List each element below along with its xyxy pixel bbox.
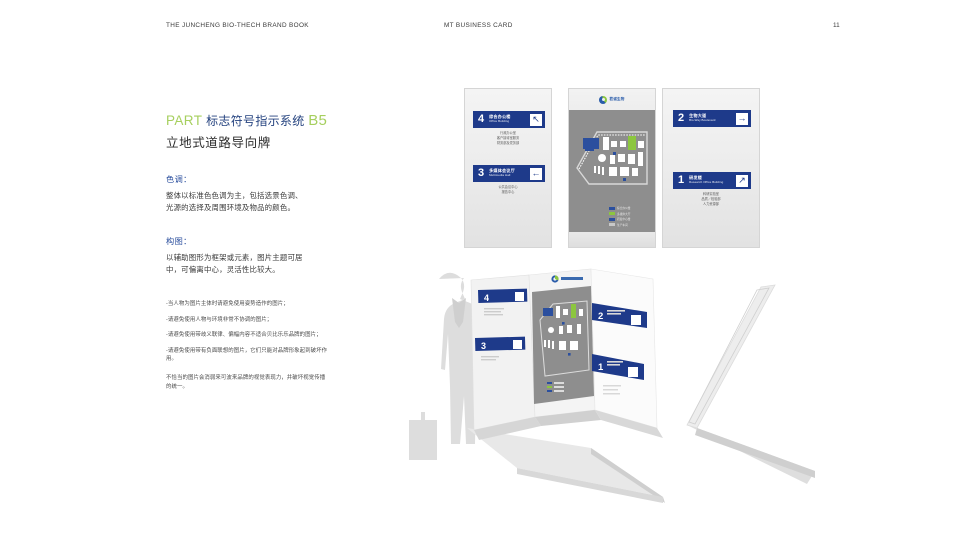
sign-panel-map: 君诚生物	[568, 88, 656, 248]
svg-text:2: 2	[598, 311, 603, 322]
sign-row-3: 3 多媒体会议厅 Multimedia Hall ←	[473, 165, 545, 182]
page-number: 11	[833, 22, 840, 29]
section-body-line: 以辅助图形为框架或元素，图片主题可居	[166, 252, 338, 264]
sign-sublines-4: 行政办公室 客户接待室服务 财务部及党务部	[465, 131, 551, 146]
svg-text:3: 3	[481, 341, 486, 351]
sign-number: 1	[678, 175, 684, 186]
sign-sublines-1: 科研实验室 品质／检验部 人力资源部	[663, 192, 759, 207]
kiosk-map-legend	[547, 382, 564, 392]
legend-swatch-icon	[609, 223, 615, 226]
section-body: 以辅助图形为框架或元素，图片主题可居 中，可偏离中心，灵活性比较大。	[166, 252, 338, 275]
arrow-right-icon: →	[736, 113, 748, 125]
note-item: -请避免使用带歧义联律、偏幅内容不适合贝比乐乐品牌的图片；	[166, 331, 328, 340]
campus-map-graphic	[575, 122, 651, 192]
logo-wordmark: 君诚生物	[609, 97, 624, 102]
sign-subline: 报告中心	[465, 190, 551, 195]
guideline-notes: -当人物为图片主体时请避免使用姿势造作的图片； -请避免使用人物与环境非常不协调…	[166, 300, 328, 398]
legend-item: 综合办公楼	[609, 206, 630, 210]
page-header: THE JUNCHENG BIO-THECH BRAND BOOK MT BUS…	[0, 22, 960, 36]
page-title: PART 标志符号指示系统 B5	[166, 112, 338, 130]
title-part-label: PART	[166, 113, 202, 128]
campus-map: 综合办公楼 多媒体大厅 研发中心楼 生产车间	[569, 110, 655, 234]
note-summary: 不恰当的图片会消弱来可波来品牌的视觉表现力，并破坏视觉传播的统一。	[166, 374, 328, 391]
arrow-up-left-icon: ↖	[530, 114, 542, 126]
logo-swirl-icon	[599, 96, 607, 104]
legend-swatch-icon	[609, 218, 615, 221]
sign-label: 综合办公楼 Office Building	[489, 115, 510, 123]
note-item: -请避免使用带有负面联想的图片，它们只能对品牌形象起到破坏作用。	[166, 347, 328, 364]
legend-label: 生产车间	[617, 223, 628, 227]
section-body-line: 整体以标准色色调为主，包括选景色调、	[166, 190, 338, 202]
sign-row-4: 4 综合办公楼 Office Building ↖	[473, 111, 545, 128]
sign-sublines-3: 公共会议中心 报告中心	[465, 185, 551, 195]
legend-swatch-icon	[609, 207, 615, 210]
sign-label: 多媒体会议厅 Multimedia Hall	[489, 169, 515, 177]
signage-side-profile	[687, 285, 815, 484]
map-panel-base	[569, 232, 655, 247]
section-composition: 构图： 以辅助图形为框架或元素，图片主题可居 中，可偏离中心，灵活性比较大。	[166, 235, 338, 275]
arrow-left-icon: ←	[530, 168, 542, 180]
section-body-line: 光源的选择及周围环境及物品的颜色。	[166, 202, 338, 214]
svg-text:4: 4	[484, 293, 489, 303]
sign-number: 3	[478, 168, 484, 179]
page-subtitle: 立地式道路导向牌	[166, 132, 338, 151]
legend-item: 多媒体大厅	[609, 212, 630, 216]
legend-label: 多媒体大厅	[617, 212, 630, 216]
sign-subline: 人力资源部	[663, 202, 759, 207]
signage-3d-graphic: 4 3	[395, 252, 835, 512]
section-body: 整体以标准色色调为主，包括选景色调、 光源的选择及周围环境及物品的颜色。	[166, 190, 338, 213]
sign-panel-right: 2 生物大道 Bio-Way Boulevard → 1 研发楼 Researc…	[662, 88, 760, 248]
sign-number: 2	[678, 113, 684, 124]
sign-panel-left: 4 综合办公楼 Office Building ↖ 行政办公室 客户接待室服务 …	[464, 88, 552, 248]
header-section-title: MT BUSINESS CARD	[444, 22, 513, 29]
title-system-name: 标志符号指示系统	[206, 114, 304, 128]
sign-number: 4	[478, 114, 484, 125]
section-heading: 构图：	[166, 235, 338, 247]
sign-label-en: Research Office Building	[689, 181, 723, 184]
section-body-line: 中，可偏离中心，灵活性比较大。	[166, 264, 338, 276]
note-item: -请避免使用人物与环境非常不协调的图片；	[166, 316, 328, 325]
signboard-flat-layout: 4 综合办公楼 Office Building ↖ 行政办公室 客户接待室服务 …	[464, 88, 760, 248]
sign-label: 生物大道 Bio-Way Boulevard	[689, 114, 715, 122]
svg-text:1: 1	[598, 362, 604, 373]
legend-item: 生产车间	[609, 223, 630, 227]
sign-row-2: 2 生物大道 Bio-Way Boulevard →	[673, 110, 751, 127]
sign-label-en: Multimedia Hall	[489, 174, 515, 177]
kiosk-base	[467, 428, 665, 503]
legend-label: 研发中心楼	[617, 217, 630, 221]
legend-label: 综合办公楼	[617, 206, 630, 210]
sign-label-en: Bio-Way Boulevard	[689, 119, 715, 122]
arrow-up-right-icon: ↗	[736, 175, 748, 187]
sign-row-1: 1 研发楼 Research Office Building ↗	[673, 172, 751, 189]
section-color-tone: 色调： 整体以标准色色调为主，包括选景色调、 光源的选择及周围环境及物品的颜色。	[166, 173, 338, 213]
map-legend: 综合办公楼 多媒体大厅 研发中心楼 生产车间	[609, 206, 630, 228]
sign-label: 研发楼 Research Office Building	[689, 176, 723, 184]
editorial-column: PART 标志符号指示系统 B5 立地式道路导向牌 色调： 整体以标准色色调为主…	[166, 112, 338, 275]
sign-subline: 财务部及党务部	[465, 141, 551, 146]
note-item: -当人物为图片主体时请避免使用姿势造作的图片；	[166, 300, 328, 309]
legend-swatch-icon	[609, 212, 615, 215]
kiosk-panel-map	[529, 269, 601, 426]
title-section-code: B5	[308, 112, 327, 129]
section-heading: 色调：	[166, 173, 338, 185]
legend-item: 研发中心楼	[609, 217, 630, 221]
header-brand-title: THE JUNCHENG BIO-THECH BRAND BOOK	[166, 22, 309, 29]
kiosk-panel-right: 2 1	[591, 269, 663, 438]
sign-label-en: Office Building	[489, 120, 510, 123]
signage-3d-render: 4 3	[395, 252, 835, 512]
brand-logo: 君诚生物	[569, 89, 655, 110]
